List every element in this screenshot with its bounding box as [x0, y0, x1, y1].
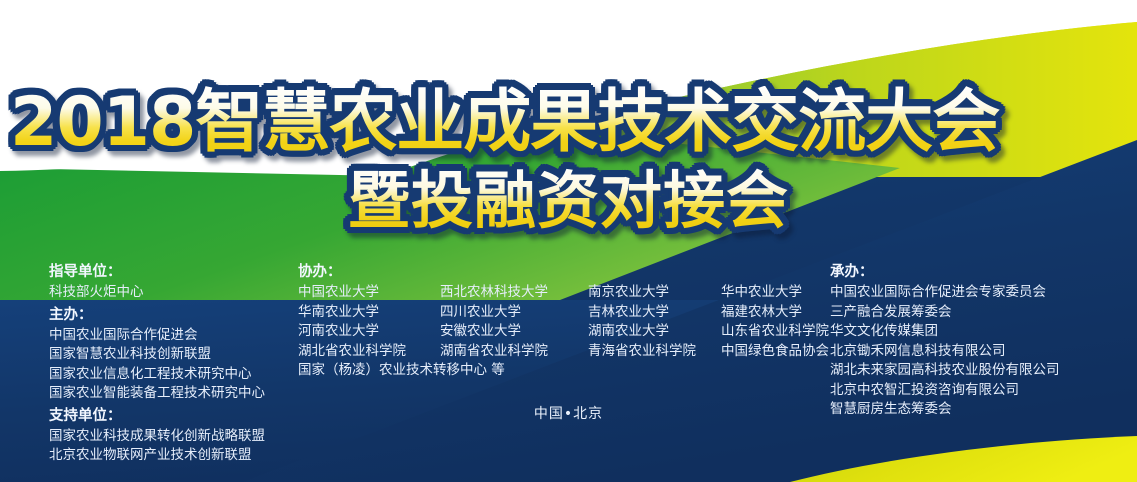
- partner-name: 华南农业大学: [298, 303, 440, 323]
- partner-name-tail: 国家（杨凌）农业技术转移中心 等: [298, 361, 818, 381]
- title-block: 2018智慧农业成果技术交流大会: [0, 86, 1137, 160]
- credit-group-heading: 指导单位：: [49, 262, 294, 282]
- partner-name: 南京农业大学: [588, 283, 721, 303]
- partner-name: 湖北省农业科学院: [298, 342, 440, 362]
- partner-name: 湖南农业大学: [588, 322, 721, 342]
- credit-line: 湖北未来家园高科技农业股份有限公司: [830, 361, 1130, 381]
- partner-name: 青海省农业科学院: [588, 342, 721, 362]
- partner-name: 河南农业大学: [298, 322, 440, 342]
- credit-line: 北京锄禾网信息科技有限公司: [830, 342, 1130, 362]
- credit-line: 三产融合发展筹委会: [830, 303, 1130, 323]
- partner-name: 吉林农业大学: [588, 303, 721, 323]
- credit-group-guidance: 指导单位： 科技部火炬中心: [49, 262, 294, 303]
- conference-banner: 2018智慧农业成果技术交流大会 暨投融资对接会 指导单位： 科技部火炬中心 主…: [0, 0, 1137, 482]
- partner-name: 安徽农业大学: [440, 322, 588, 342]
- partner-name: 西北农林科技大学: [440, 283, 588, 303]
- credits-column-middle: 协办： 中国农业大学 西北农林科技大学 南京农业大学 华中农业大学 华南农业大学…: [298, 262, 818, 381]
- sub-title-block: 暨投融资对接会: [0, 166, 1137, 236]
- credits-column-right: 承办： 中国农业国际合作促进会专家委员会 三产融合发展筹委会 华文文化传媒集团 …: [830, 262, 1130, 420]
- partner-grid: 中国农业大学 西北农林科技大学 南京农业大学 华中农业大学 华南农业大学 四川农…: [298, 283, 818, 361]
- credit-group-host: 主办： 中国农业国际合作促进会 国家智慧农业科技创新联盟 国家农业信息化工程技术…: [49, 305, 294, 404]
- partner-name: 中国农业大学: [298, 283, 440, 303]
- credit-group-heading: 承办：: [830, 262, 1130, 282]
- credit-line: 科技部火炬中心: [49, 283, 294, 303]
- partner-name: 四川农业大学: [440, 303, 588, 323]
- credits-column-left: 指导单位： 科技部火炬中心 主办： 中国农业国际合作促进会 国家智慧农业科技创新…: [49, 262, 294, 468]
- credit-line: 国家农业智能装备工程技术研究中心: [49, 384, 294, 404]
- credit-line: 中国农业国际合作促进会专家委员会: [830, 283, 1130, 303]
- credit-group-heading: 协办：: [298, 262, 818, 282]
- credit-line: 中国农业国际合作促进会: [49, 326, 294, 346]
- credit-line: 北京农业物联网产业技术创新联盟: [49, 446, 294, 466]
- sub-title: 暨投融资对接会: [0, 166, 1137, 236]
- location-text: 中国•北京: [0, 404, 1137, 424]
- credit-group-heading: 主办：: [49, 305, 294, 325]
- credit-line: 华文文化传媒集团: [830, 322, 1130, 342]
- credit-line: 国家农业科技成果转化创新战略联盟: [49, 427, 294, 447]
- credit-line: 北京中农智汇投资咨询有限公司: [830, 381, 1130, 401]
- credit-line: 国家农业信息化工程技术研究中心: [49, 365, 294, 385]
- main-title: 2018智慧农业成果技术交流大会: [0, 86, 1137, 160]
- credit-line: 国家智慧农业科技创新联盟: [49, 345, 294, 365]
- partner-name: 湖南省农业科学院: [440, 342, 588, 362]
